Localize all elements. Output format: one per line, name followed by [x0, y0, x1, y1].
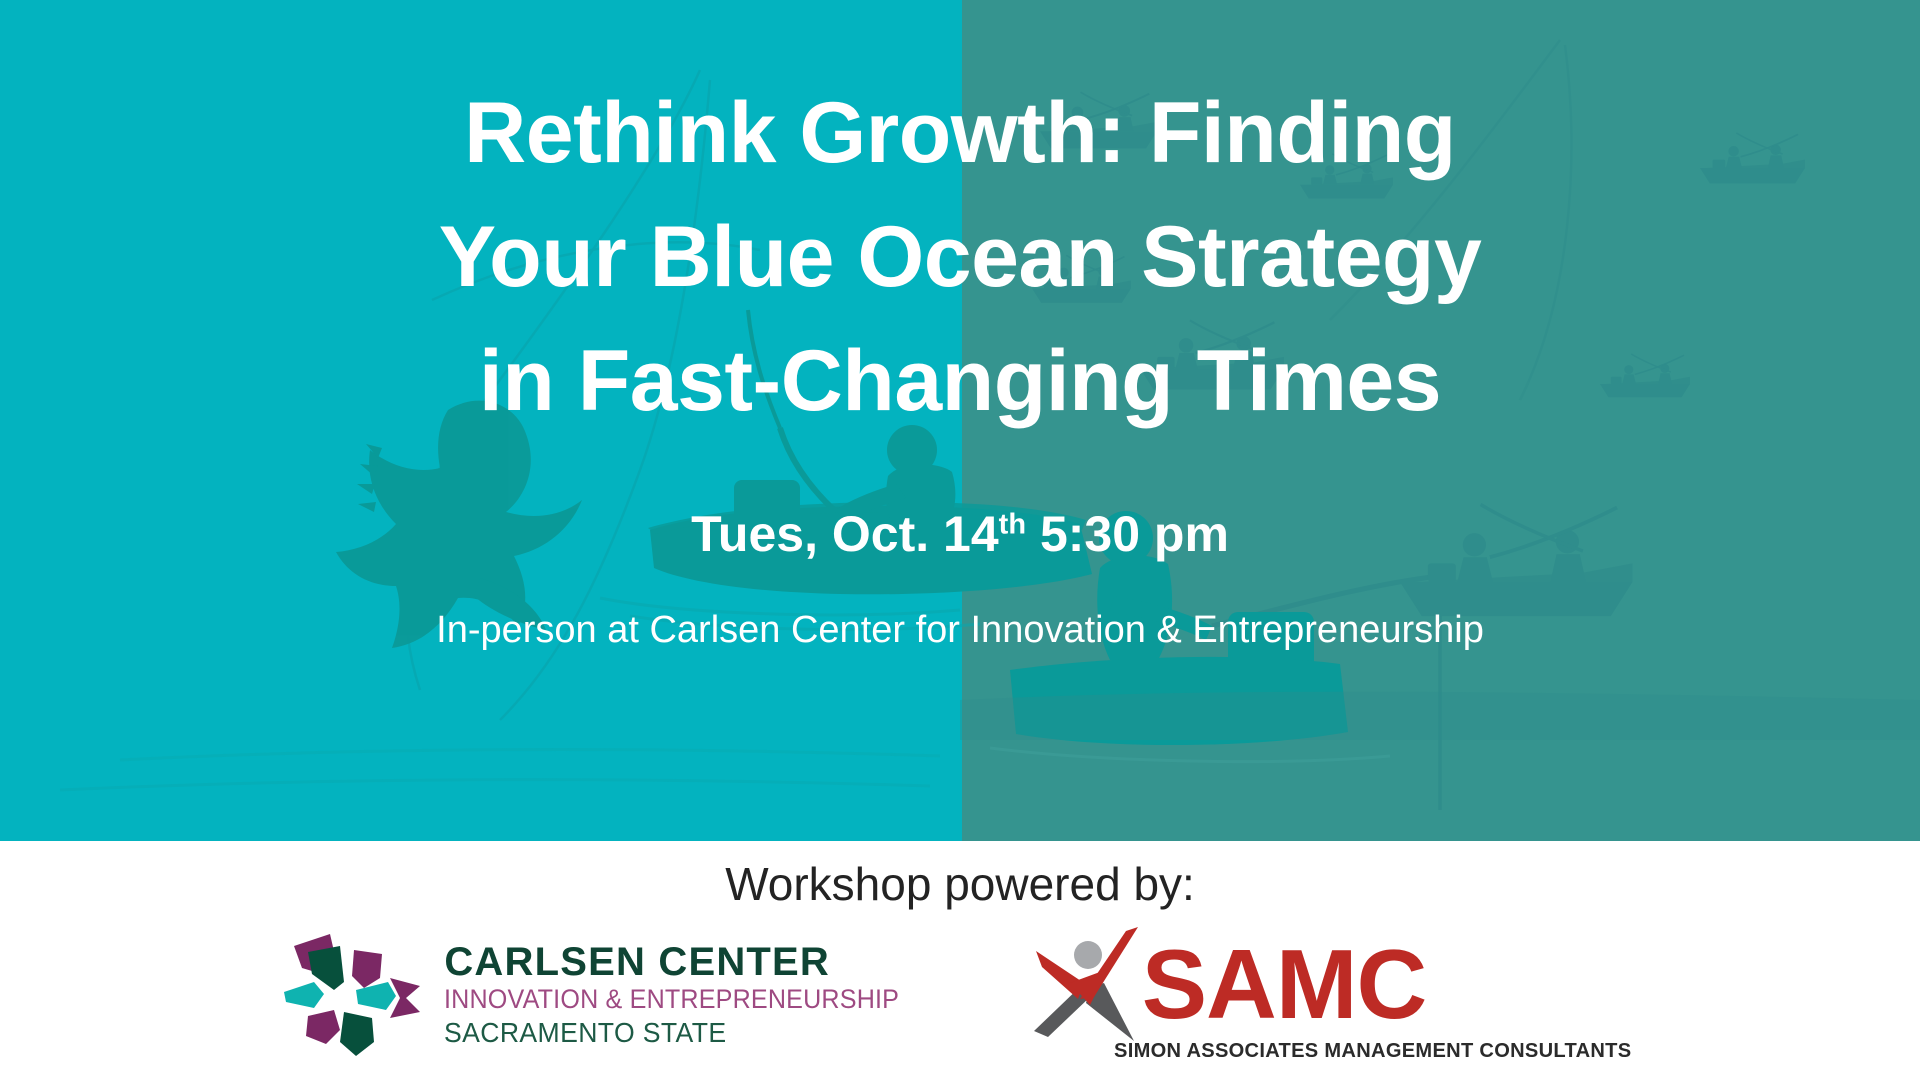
- sponsor-logo-row: CARLSEN CENTER INNOVATION & ENTREPRENEUR…: [278, 925, 1641, 1063]
- samc-logo[interactable]: SAMC SIMON ASSOCIATES MANAGEMENT CONSULT…: [1030, 925, 1642, 1063]
- carlsen-subtitle: INNOVATION & ENTREPRENEURSHIP: [444, 986, 899, 1013]
- carlsen-wordmark: CARLSEN CENTER INNOVATION & ENTREPRENEUR…: [444, 942, 933, 1047]
- title-line-1: Rethink Growth: Finding: [464, 85, 1456, 181]
- carlsen-name: CARLSEN CENTER: [444, 942, 933, 982]
- event-datetime: Tues, Oct. 14th 5:30 pm: [691, 505, 1229, 563]
- footer-section: Workshop powered by:: [0, 841, 1920, 1080]
- event-time: 5:30 pm: [1040, 506, 1229, 562]
- title-line-2: Your Blue Ocean Strategy: [439, 209, 1482, 305]
- event-month: Oct.: [832, 506, 929, 562]
- carlsen-center-logo[interactable]: CARLSEN CENTER INNOVATION & ENTREPRENEUR…: [278, 930, 933, 1058]
- event-banner: Rethink Growth: Finding Your Blue Ocean …: [0, 0, 1920, 1080]
- hero-text-block: Rethink Growth: Finding Your Blue Ocean …: [0, 0, 1920, 841]
- event-date-ordinal: th: [999, 509, 1026, 541]
- hero-section: Rethink Growth: Finding Your Blue Ocean …: [0, 0, 1920, 841]
- samc-primary-row: SAMC: [1030, 925, 1427, 1043]
- pinwheel-icon: [278, 930, 428, 1058]
- title-line-3: in Fast-Changing Times: [479, 333, 1441, 429]
- powered-by-label: Workshop powered by:: [725, 857, 1195, 911]
- event-date-number: 14: [943, 506, 999, 562]
- samc-tagline: SIMON ASSOCIATES MANAGEMENT CONSULTANTS: [1114, 1039, 1631, 1063]
- star-person-icon: [1030, 925, 1148, 1043]
- carlsen-university: SACRAMENTO STATE: [444, 1019, 909, 1047]
- samc-wordmark: SAMC: [1142, 941, 1427, 1027]
- event-location: In-person at Carlsen Center for Innovati…: [436, 609, 1484, 652]
- event-title: Rethink Growth: Finding Your Blue Ocean …: [250, 72, 1670, 443]
- event-day: Tues,: [691, 506, 818, 562]
